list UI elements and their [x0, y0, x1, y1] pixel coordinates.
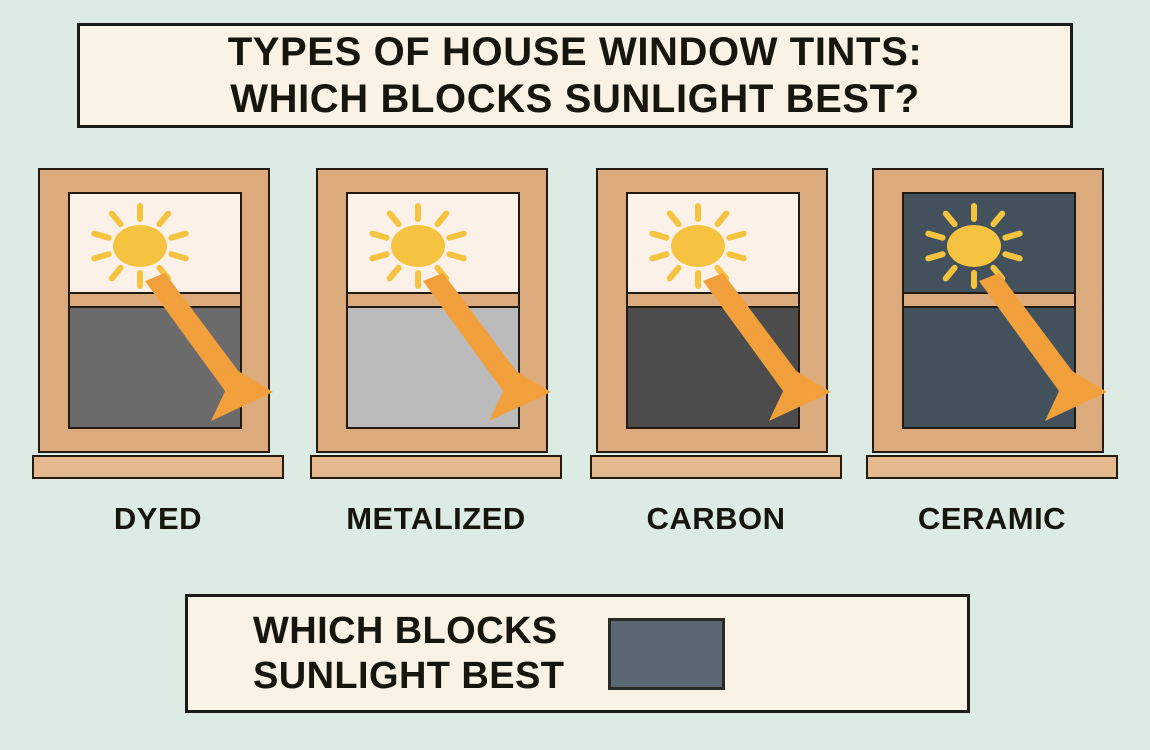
- lower-glass-pane: [70, 308, 240, 427]
- window-label-carbon: CARBON: [590, 501, 842, 537]
- window-tint-comparison-row: DYED METALIZED CARBON CERAMIC: [0, 168, 1150, 488]
- window-mid-rail: [628, 292, 798, 308]
- upper-glass-pane: [904, 194, 1074, 292]
- window-label-metalized: METALIZED: [310, 501, 562, 537]
- window-label-dyed: DYED: [32, 501, 284, 537]
- window-sash: [902, 192, 1076, 429]
- window-sash: [626, 192, 800, 429]
- window-label-ceramic: CERAMIC: [866, 501, 1118, 537]
- conclusion-text: WHICH BLOCKS SUNLIGHT BEST: [253, 609, 564, 698]
- upper-glass-pane: [348, 194, 518, 292]
- window-sill: [32, 455, 284, 479]
- window-frame: [872, 168, 1104, 453]
- lower-glass-pane: [348, 308, 518, 427]
- conclusion-line-2: SUNLIGHT BEST: [253, 654, 564, 698]
- window-frame: [596, 168, 828, 453]
- window-mid-rail: [70, 292, 240, 308]
- window-sill: [866, 455, 1118, 479]
- window-unit-carbon: CARBON: [590, 168, 842, 488]
- window-mid-rail: [904, 292, 1074, 308]
- window-sill: [310, 455, 562, 479]
- lower-glass-pane: [628, 308, 798, 427]
- window-sash: [68, 192, 242, 429]
- title-banner: TYPES OF HOUSE WINDOW TINTS: WHICH BLOCK…: [77, 23, 1073, 128]
- window-frame: [38, 168, 270, 453]
- sun-icon: [366, 202, 470, 292]
- window-sill: [590, 455, 842, 479]
- window-mid-rail: [348, 292, 518, 308]
- window-sash: [346, 192, 520, 429]
- window-unit-ceramic: CERAMIC: [866, 168, 1118, 488]
- window-unit-metalized: METALIZED: [310, 168, 562, 488]
- title-line-2: WHICH BLOCKS SUNLIGHT BEST?: [230, 76, 920, 122]
- upper-glass-pane: [70, 194, 240, 292]
- lower-glass-pane: [904, 308, 1074, 427]
- answer-color-swatch: [608, 618, 725, 690]
- sun-icon: [646, 202, 750, 292]
- title-line-1: TYPES OF HOUSE WINDOW TINTS:: [228, 29, 923, 75]
- window-unit-dyed: DYED: [32, 168, 284, 488]
- sun-icon: [922, 202, 1026, 292]
- upper-glass-pane: [628, 194, 798, 292]
- sun-icon: [88, 202, 192, 292]
- conclusion-line-1: WHICH BLOCKS: [253, 609, 564, 653]
- window-frame: [316, 168, 548, 453]
- conclusion-banner: WHICH BLOCKS SUNLIGHT BEST: [185, 594, 970, 713]
